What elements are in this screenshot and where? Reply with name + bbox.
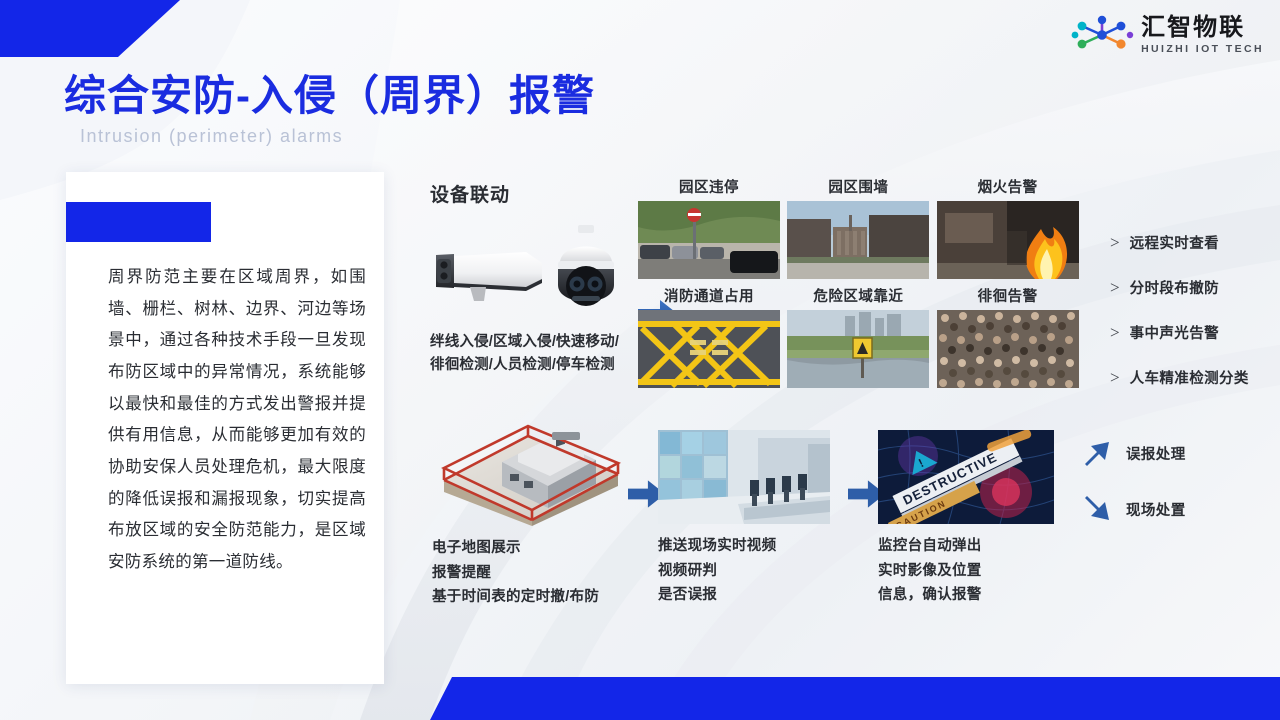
arrow-up-right-icon <box>1082 438 1112 468</box>
scene-fire-flame <box>937 201 1079 279</box>
scene-destructive-weather-alert-screen: DESTRUCTIVE CAUTION ! <box>878 430 1054 524</box>
grid-item-label: 烟火告警 <box>937 176 1079 197</box>
flow-step: 推送现场实时视频 视频研判 是否误报 <box>658 430 868 608</box>
grid-item-label: 园区违停 <box>638 176 780 197</box>
flow-step-caption: 电子地图展示 报警提醒 基于时间表的定时撤/布防 <box>432 536 662 610</box>
grid-item-label: 消防通道占用 <box>638 285 780 306</box>
grid-item-label: 危险区域靠近 <box>787 285 929 306</box>
grid-item: 消防通道占用 <box>638 285 780 388</box>
description-card-body: 周界防范主要在区域周界，如围墙、栅栏、树林、边界、河边等场景中，通过各种技术手段… <box>108 262 366 579</box>
description-card-badge <box>66 202 211 242</box>
feature-list-item[interactable]: > 事中声光告警 <box>1110 322 1280 343</box>
device-linkage-block: 设备联动 <box>430 180 630 378</box>
feature-list-item-label: 人车精准检测分类 <box>1130 367 1249 388</box>
flow-step: 电子地图展示 报警提醒 基于时间表的定时撤/布防 <box>432 418 662 610</box>
scene-image-grid: 园区违停 园区围墙 <box>638 176 1080 388</box>
flow-step-caption: 监控台自动弹出 实时影像及位置 信息，确认报警 <box>878 534 1088 608</box>
slide-root: 综合安防-入侵（周界）报警 Intrusion (perimeter) alar… <box>0 0 1280 720</box>
chevron-right-icon: > <box>1110 279 1120 296</box>
scene-fire-lane-markings <box>638 310 780 388</box>
feature-list-item-label: 分时段布撤防 <box>1130 277 1219 298</box>
feature-list-item[interactable]: > 人车精准检测分类 <box>1110 367 1280 388</box>
diagram-area: 设备联动 <box>410 170 1280 640</box>
camera-icons-group <box>430 221 630 329</box>
bullet-camera-icon <box>430 243 550 305</box>
scene-3d-building-perimeter-model <box>432 418 628 526</box>
grid-item: 园区违停 <box>638 176 780 279</box>
page-title: 综合安防-入侵（周界）报警 <box>64 62 595 123</box>
outcome-list: 误报处理 现场处置 <box>1082 438 1272 550</box>
outcome-item-label: 误报处理 <box>1126 443 1186 464</box>
chevron-right-icon: > <box>1110 234 1120 251</box>
feature-list-item[interactable]: > 分时段布撤防 <box>1110 277 1280 298</box>
logo-text: 汇智物联 HUIZHI IOT TECH <box>1141 15 1264 54</box>
outcome-item[interactable]: 现场处置 <box>1082 494 1272 524</box>
feature-list-item-label: 事中声光告警 <box>1130 322 1219 343</box>
arrow-down-right-icon <box>1082 494 1112 524</box>
scene-street-parking-violation <box>638 201 780 279</box>
flow-step-caption: 推送现场实时视频 视频研判 是否误报 <box>658 534 868 608</box>
feature-list: > 远程实时查看 > 分时段布撤防 > 事中声光告警 > 人车精准检测分类 <box>1110 232 1280 412</box>
chevron-right-icon: > <box>1110 324 1120 341</box>
outcome-item-label: 现场处置 <box>1126 499 1186 520</box>
logo-molecule-icon <box>1069 14 1135 56</box>
scene-perimeter-wall <box>787 201 929 279</box>
description-card: 周界防范主要在区域周界，如围墙、栅栏、树林、边界、河边等场景中，通过各种技术手段… <box>66 172 384 684</box>
grid-item: 徘徊告警 <box>937 285 1079 388</box>
grid-item-label: 园区围墙 <box>787 176 929 197</box>
flow-step: DESTRUCTIVE CAUTION ! 监控台自动弹出 实时影像及位置 信息… <box>878 430 1088 608</box>
chevron-right-icon: > <box>1110 369 1120 386</box>
outcome-item[interactable]: 误报处理 <box>1082 438 1272 468</box>
brand-logo: 汇智物联 HUIZHI IOT TECH <box>1069 14 1264 56</box>
scene-hazard-waterside-sign <box>787 310 929 388</box>
ptz-dome-camera-icon <box>542 223 630 327</box>
scene-video-wall-control-room <box>658 430 830 524</box>
page-subtitle: Intrusion (perimeter) alarms <box>80 126 343 147</box>
scene-crowd <box>937 310 1079 388</box>
device-linkage-caption: 绊线入侵/区域入侵/快速移动/徘徊检测/人员检测/停车检测 <box>430 331 630 378</box>
device-linkage-heading: 设备联动 <box>430 180 630 207</box>
grid-item: 烟火告警 <box>937 176 1079 279</box>
logo-name-cn: 汇智物联 <box>1141 15 1245 40</box>
feature-list-item[interactable]: > 远程实时查看 <box>1110 232 1280 253</box>
feature-list-item-label: 远程实时查看 <box>1130 232 1219 253</box>
grid-item: 园区围墙 <box>787 176 929 279</box>
grid-item-label: 徘徊告警 <box>937 285 1079 306</box>
logo-name-en: HUIZHI IOT TECH <box>1141 43 1264 55</box>
corner-accent-bottom <box>430 677 1280 720</box>
description-card-badge-label <box>66 202 211 222</box>
grid-item: 危险区域靠近 <box>787 285 929 388</box>
